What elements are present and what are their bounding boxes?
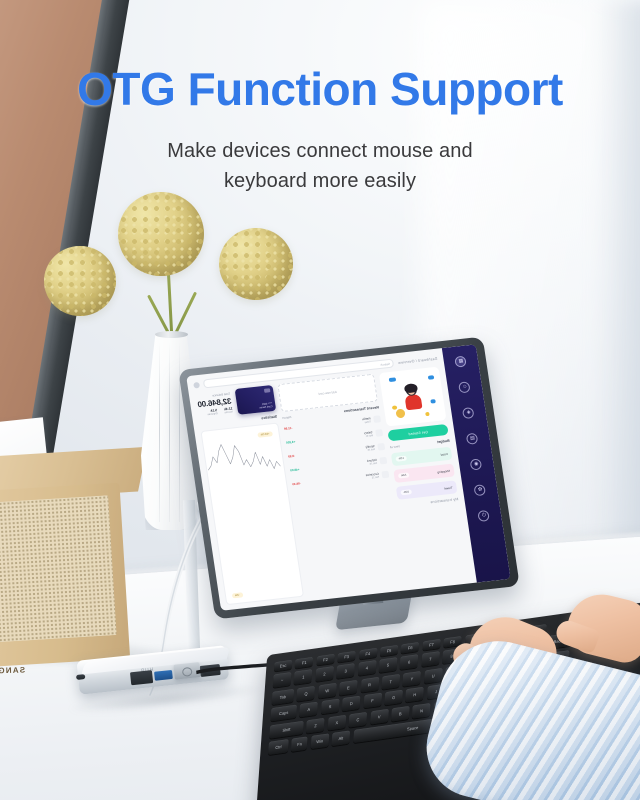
key-v[interactable]: V [370,708,389,724]
key-f5[interactable]: F5 [380,645,398,657]
budget-footer[interactable]: My transactions [398,497,458,508]
transaction-date: Feb 26 [367,461,377,465]
transaction-amount: -9.99 [288,454,295,459]
key-n[interactable]: N [412,702,431,718]
logout-icon[interactable]: ⏻ [478,510,491,522]
key-b[interactable]: B [391,705,410,721]
cta-label: Get Started [408,430,428,436]
key-s[interactable]: S [321,699,340,715]
transaction-amount: +3,200 [286,440,296,445]
transactions-report-link[interactable]: Report [282,415,292,420]
coin-shape [428,375,435,380]
key-caps[interactable]: Caps [270,705,297,722]
budget-title: Budget [437,439,450,444]
tablet-body: ▦ ☺ ◈ ▤ ◉ ✿ ⏻ Dashboard / Overview Searc… [178,337,520,620]
person-figure [403,383,423,409]
budget-view-all[interactable]: View all [390,444,401,449]
gear-icon[interactable]: ✿ [474,484,487,496]
avatar[interactable] [193,381,200,388]
vase-rib [159,342,160,522]
dashboard-app: ▦ ☺ ◈ ▤ ◉ ✿ ⏻ Dashboard / Overview Searc… [186,344,510,610]
transaction-date: Mar 01 [364,434,373,438]
budget-row[interactable]: Shopping 24% [393,464,455,483]
key-g[interactable]: G [384,690,403,706]
flower-bloom-right [219,228,293,300]
key-6[interactable]: 6 [400,655,419,671]
radio-brand-label: SANGEAN [0,666,25,676]
key-f7[interactable]: F7 [422,639,440,651]
transaction-date: Today [362,420,371,424]
key-f4[interactable]: F4 [359,648,377,660]
key-c[interactable]: C [349,711,368,727]
key-tab[interactable]: Tab [272,689,295,705]
transactions-title: Recent Transactions [344,405,380,413]
key-alt[interactable]: Alt [332,730,351,746]
person-hair [404,383,418,393]
transaction-amount: -86.40 [292,481,301,486]
tablet[interactable]: ▦ ☺ ◈ ▤ ◉ ✿ ⏻ Dashboard / Overview Searc… [178,337,520,620]
flower-bloom-center [118,192,204,276]
transaction-icon [379,456,387,464]
wallet-icon[interactable]: ◈ [462,407,475,419]
key-d[interactable]: D [342,696,361,712]
key-shift[interactable]: Shift [269,720,304,738]
tablet-screen[interactable]: ▦ ☺ ◈ ▤ ◉ ✿ ⏻ Dashboard / Overview Searc… [186,344,510,610]
chart-line [204,432,282,485]
coin-shape [425,412,430,416]
page-title: OTG Function Support [0,62,640,116]
marketing-image: VOLUME SANGEAN [0,0,640,800]
budget-row-label: Shopping [437,468,450,473]
budget-row-label: Travel [444,485,453,490]
card-chip-icon [264,388,271,393]
balance-stat: 5.1k Expense [207,408,218,416]
subtitle-line-1: Make devices connect mouse and [0,136,640,166]
balance-stat-caption: Expense [207,412,217,416]
hero-illustration [379,367,447,427]
key-f6[interactable]: F6 [401,642,419,654]
key-e[interactable]: E [339,680,358,696]
key-win[interactable]: Win [310,733,329,749]
transaction-info: Groceries Feb 25 [365,470,389,479]
vase-rib [169,342,170,522]
budget-row-tag: 15% [400,489,412,495]
breadcrumb: Dashboard / Overview [398,356,438,364]
key-w[interactable]: W [318,683,337,699]
key-r[interactable]: R [360,677,379,693]
transaction-amount: +48.00 [290,467,300,472]
transaction-icon [377,442,385,450]
key-f[interactable]: F [363,693,382,709]
add-card-label: Add new card [318,390,337,396]
budget-row[interactable]: Travel 15% [396,480,458,499]
key-z[interactable]: Z [306,717,325,733]
key-4[interactable]: 4 [357,661,376,677]
key-7[interactable]: 7 [421,652,440,668]
transaction-info: Spotify Feb 28 [365,442,385,451]
vase-rim [155,331,188,338]
key-5[interactable]: 5 [379,658,398,674]
dashboard-columns: Get Started Budget View all Food 12% [195,367,470,606]
key-u[interactable]: U [424,668,443,684]
chart-low-tag: -4% [232,592,243,598]
key-1[interactable]: 1 [294,669,313,685]
wooden-radio: VOLUME SANGEAN [0,447,160,673]
key-f2[interactable]: F2 [316,654,334,666]
chart-icon[interactable]: ◉ [470,458,483,470]
transaction-icon [375,429,383,437]
key-y[interactable]: Y [403,671,422,687]
key-fn[interactable]: Fn [291,736,308,751]
total-balance: Total Balance 32,846.00 12.4k Income [195,390,234,420]
key-h[interactable]: H [405,687,424,703]
balance-row: **** 4821 Card Name Total Balance 32,846… [195,385,276,419]
radio-front: VOLUME SANGEAN [0,483,130,668]
key-t[interactable]: T [381,674,400,690]
budget-row-label: Food [440,452,447,457]
subtitle-line-2: keyboard more easily [0,166,640,196]
key-ctrl[interactable]: Ctrl [268,739,289,755]
analytics-title: Statistics [261,415,277,421]
search-placeholder: Search [380,361,390,366]
coin-bag [395,409,405,419]
key-3[interactable]: 3 [336,663,355,679]
bank-card[interactable]: **** 4821 Card Name [235,385,277,415]
hdmi-port[interactable] [130,670,153,685]
key-q[interactable]: Q [297,686,316,702]
coin-shape [430,399,436,404]
transaction-icon [381,470,389,478]
dashboard-content: Dashboard / Overview Search [186,348,477,611]
radio-speaker-grille [0,495,117,642]
grid-icon[interactable]: ▦ [455,356,468,368]
transaction-amount: -12.99 [284,426,293,431]
card-icon[interactable]: ▤ [466,433,479,445]
flower-bloom-left [44,246,116,316]
usb-3-port[interactable] [154,670,173,681]
transaction-info: Netflix Today [362,415,381,424]
person-body [404,393,422,410]
key-x[interactable]: X [327,714,346,730]
budget-row-tag: 24% [398,472,410,478]
balance-stat-caption: Income [224,410,233,414]
transaction-icon [373,415,381,423]
key-[interactable]: ~ [273,672,292,688]
key-2[interactable]: 2 [315,666,334,682]
transaction-date: Feb 28 [366,448,376,452]
key-esc[interactable]: Esc [274,660,292,672]
balance-stat: 12.4k Income [224,406,234,414]
budget-row[interactable]: Food 12% [391,447,453,466]
budget-row-tag: 12% [395,456,407,462]
transaction-info: Refund Feb 26 [367,456,388,465]
key-a[interactable]: A [299,702,318,718]
page-subtitle: Make devices connect mouse and keyboard … [0,136,640,196]
usb-c-port[interactable] [76,674,85,680]
user-icon[interactable]: ☺ [459,381,472,393]
key-f3[interactable]: F3 [337,651,355,663]
transaction-info: Salary Mar 01 [364,429,383,438]
key-f1[interactable]: F1 [295,657,313,669]
coin-shape [389,377,397,382]
